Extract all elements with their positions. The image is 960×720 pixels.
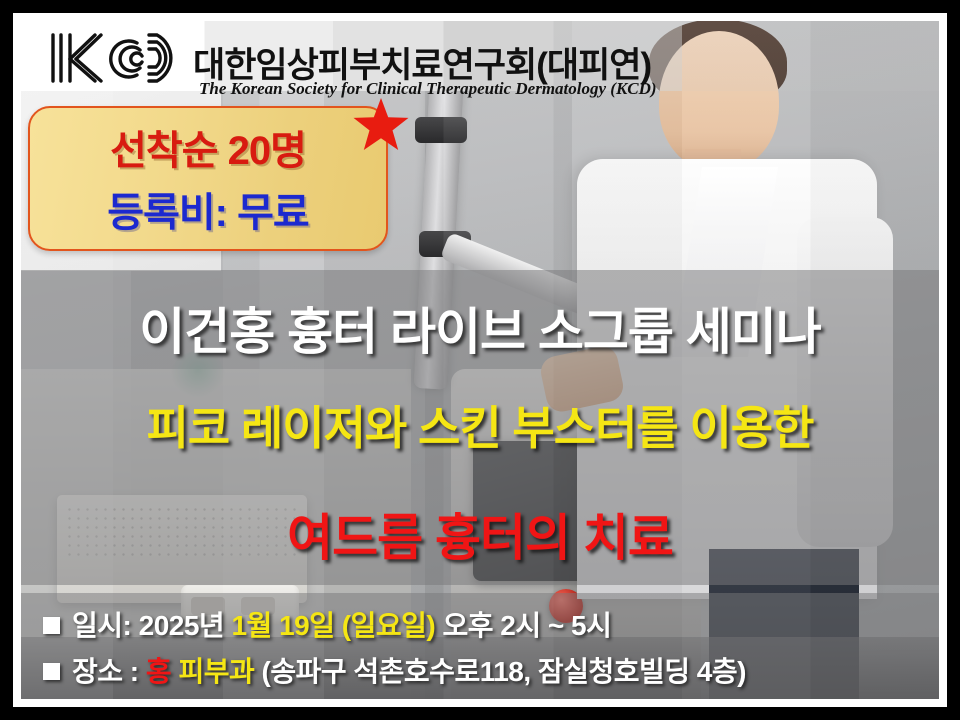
event-datetime-row: 일시: 2025년 1월 19일 (일요일) 오후 2시 ~ 5시 (43, 604, 611, 644)
main-title-panel: 이건홍 흉터 라이브 소그룹 세미나 피코 레이저와 스킨 부스터를 이용한 여… (21, 270, 939, 585)
square-bullet-icon (43, 617, 60, 634)
seminar-subtitle: 피코 레이저와 스킨 부스터를 이용한 (21, 392, 939, 458)
seminar-topic: 여드름 흉터의 치료 (21, 498, 939, 570)
datetime-time: 오후 2시 ~ 5시 (443, 610, 612, 641)
venue-address: (송파구 석촌호수로118, 잠실청호빌딩 4층) (262, 656, 746, 687)
datetime-date-highlight: 1월 19일 (일요일) (231, 610, 435, 641)
event-info-panel: 일시: 2025년 1월 19일 (일요일) 오후 2시 ~ 5시 장소 : 홍… (21, 593, 939, 699)
organization-name-english: The Korean Society for Clinical Therapeu… (199, 79, 657, 99)
datetime-year: 2025년 (139, 610, 225, 641)
kcd-logo-icon (45, 29, 195, 87)
poster-header: 대한임상피부치료연구회(대피연) The Korean Society for … (21, 21, 939, 91)
datetime-label: 일시: (72, 610, 131, 641)
promo-fee-text: 등록비: 무료 (28, 180, 388, 238)
event-venue-row: 장소 : 홍 피부과 (송파구 석촌호수로118, 잠실청호빌딩 4층) (43, 650, 746, 690)
seminar-title: 이건홍 흉터 라이브 소그룹 세미나 (21, 292, 939, 364)
venue-label: 장소 : (72, 656, 139, 687)
promo-callout: 선착순 20명 등록비: 무료 (28, 106, 388, 251)
square-bullet-icon (43, 663, 60, 680)
venue-clinic-type: 피부과 (178, 656, 254, 687)
red-star-icon (352, 96, 410, 154)
venue-clinic-surname: 홍 (146, 656, 171, 687)
promo-seats-text: 선착순 20명 (28, 118, 388, 176)
seminar-poster: 대한임상피부치료연구회(대피연) The Korean Society for … (0, 0, 960, 720)
